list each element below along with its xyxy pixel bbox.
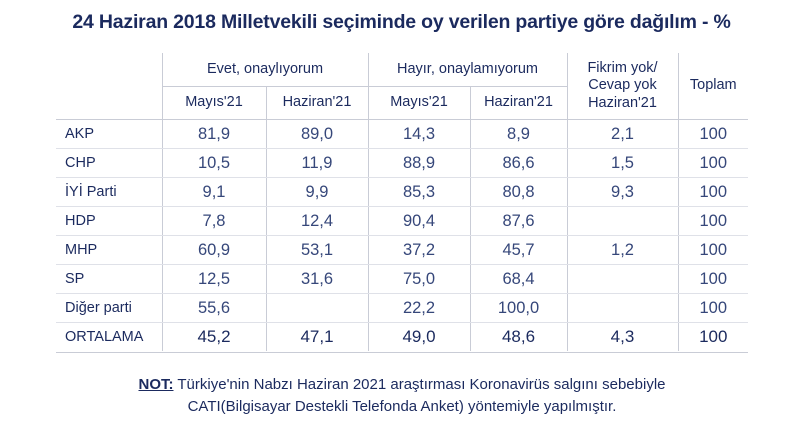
cell-hayir-haziran: 80,8 [470, 178, 567, 207]
cell-evet-haziran: 12,4 [266, 207, 368, 236]
cell-hayir-haziran: 86,6 [470, 149, 567, 178]
cell-party-name: Diğer parti [56, 294, 162, 323]
cell-evet-mayis: 9,1 [162, 178, 266, 207]
cell-toplam: 100 [678, 323, 748, 352]
cell-hayir-haziran: 87,6 [470, 207, 567, 236]
cell-fikrim-yok: 4,3 [567, 323, 678, 352]
table-row-average: ORTALAMA45,247,149,048,64,3100 [56, 323, 748, 352]
header-group-evet: Evet, onaylıyorum [162, 53, 368, 87]
cell-toplam: 100 [678, 265, 748, 294]
cell-evet-haziran: 9,9 [266, 178, 368, 207]
cell-fikrim-yok [567, 265, 678, 294]
cell-fikrim-yok: 1,2 [567, 236, 678, 265]
cell-hayir-mayis: 90,4 [368, 207, 470, 236]
header-fikrim-line2: Cevap yok [568, 77, 678, 94]
cell-toplam: 100 [678, 149, 748, 178]
cell-hayir-mayis: 37,2 [368, 236, 470, 265]
cell-hayir-haziran: 100,0 [470, 294, 567, 323]
cell-evet-mayis: 60,9 [162, 236, 266, 265]
cell-party-name: CHP [56, 149, 162, 178]
header-fikrim-line3: Haziran'21 [568, 95, 678, 112]
cell-party-name: İYİ Parti [56, 178, 162, 207]
cell-evet-mayis: 45,2 [162, 323, 266, 352]
table-header: Evet, onaylıyorum Hayır, onaylamıyorum F… [56, 53, 748, 120]
cell-evet-mayis: 10,5 [162, 149, 266, 178]
footnote-line2: CATI(Bilgisayar Destekli Telefonda Anket… [188, 398, 617, 415]
header-group-fikrim-yok: Fikrim yok/ Cevap yok Haziran'21 [567, 53, 678, 120]
footnote-label: NOT: [139, 376, 174, 393]
cell-hayir-mayis: 85,3 [368, 178, 470, 207]
cell-fikrim-yok: 1,5 [567, 149, 678, 178]
cell-hayir-mayis: 49,0 [368, 323, 470, 352]
cell-fikrim-yok: 2,1 [567, 120, 678, 149]
cell-evet-mayis: 7,8 [162, 207, 266, 236]
header-toplam: Toplam [678, 53, 748, 120]
header-fikrim-line1: Fikrim yok/ [568, 60, 678, 77]
footnote: NOT: Türkiye'nin Nabzı Haziran 2021 araş… [56, 374, 748, 418]
cell-party-name: HDP [56, 207, 162, 236]
cell-toplam: 100 [678, 294, 748, 323]
table-row: MHP60,953,137,245,71,2100 [56, 236, 748, 265]
cell-party-name: ORTALAMA [56, 323, 162, 352]
header-sub-blank [56, 87, 162, 120]
header-sub-hayir-mayis: Mayıs'21 [368, 87, 470, 120]
table-row: Diğer parti55,622,2100,0100 [56, 294, 748, 323]
cell-evet-haziran: 31,6 [266, 265, 368, 294]
cell-fikrim-yok [567, 207, 678, 236]
cell-evet-haziran [266, 294, 368, 323]
cell-fikrim-yok: 9,3 [567, 178, 678, 207]
footnote-line1: Türkiye'nin Nabzı Haziran 2021 araştırma… [174, 376, 666, 393]
header-sub-evet-haziran: Haziran'21 [266, 87, 368, 120]
page-title: 24 Haziran 2018 Milletvekili seçiminde o… [0, 11, 803, 34]
table-body: AKP81,989,014,38,92,1100CHP10,511,988,98… [56, 120, 748, 352]
table-row: İYİ Parti9,19,985,380,89,3100 [56, 178, 748, 207]
cell-evet-haziran: 47,1 [266, 323, 368, 352]
poll-results-table: Evet, onaylıyorum Hayır, onaylamıyorum F… [56, 53, 748, 351]
table-row: CHP10,511,988,986,61,5100 [56, 149, 748, 178]
cell-fikrim-yok [567, 294, 678, 323]
poll-table-container: Evet, onaylıyorum Hayır, onaylamıyorum F… [56, 53, 748, 351]
cell-hayir-mayis: 75,0 [368, 265, 470, 294]
cell-toplam: 100 [678, 178, 748, 207]
cell-evet-haziran: 89,0 [266, 120, 368, 149]
header-corner-blank [56, 53, 162, 87]
cell-hayir-haziran: 68,4 [470, 265, 567, 294]
cell-evet-haziran: 53,1 [266, 236, 368, 265]
header-group-hayir: Hayır, onaylamıyorum [368, 53, 567, 87]
cell-evet-mayis: 55,6 [162, 294, 266, 323]
header-sub-hayir-haziran: Haziran'21 [470, 87, 567, 120]
table-bottom-rule [56, 352, 748, 353]
cell-hayir-mayis: 22,2 [368, 294, 470, 323]
cell-evet-mayis: 81,9 [162, 120, 266, 149]
cell-party-name: SP [56, 265, 162, 294]
table-row: HDP7,812,490,487,6100 [56, 207, 748, 236]
header-sub-evet-mayis: Mayıs'21 [162, 87, 266, 120]
cell-hayir-mayis: 14,3 [368, 120, 470, 149]
cell-toplam: 100 [678, 120, 748, 149]
cell-hayir-haziran: 8,9 [470, 120, 567, 149]
cell-party-name: MHP [56, 236, 162, 265]
header-group-row: Evet, onaylıyorum Hayır, onaylamıyorum F… [56, 53, 748, 87]
cell-hayir-mayis: 88,9 [368, 149, 470, 178]
table-row: AKP81,989,014,38,92,1100 [56, 120, 748, 149]
cell-toplam: 100 [678, 236, 748, 265]
cell-evet-mayis: 12,5 [162, 265, 266, 294]
table-row: SP12,531,675,068,4100 [56, 265, 748, 294]
cell-evet-haziran: 11,9 [266, 149, 368, 178]
cell-toplam: 100 [678, 207, 748, 236]
cell-hayir-haziran: 45,7 [470, 236, 567, 265]
cell-hayir-haziran: 48,6 [470, 323, 567, 352]
cell-party-name: AKP [56, 120, 162, 149]
